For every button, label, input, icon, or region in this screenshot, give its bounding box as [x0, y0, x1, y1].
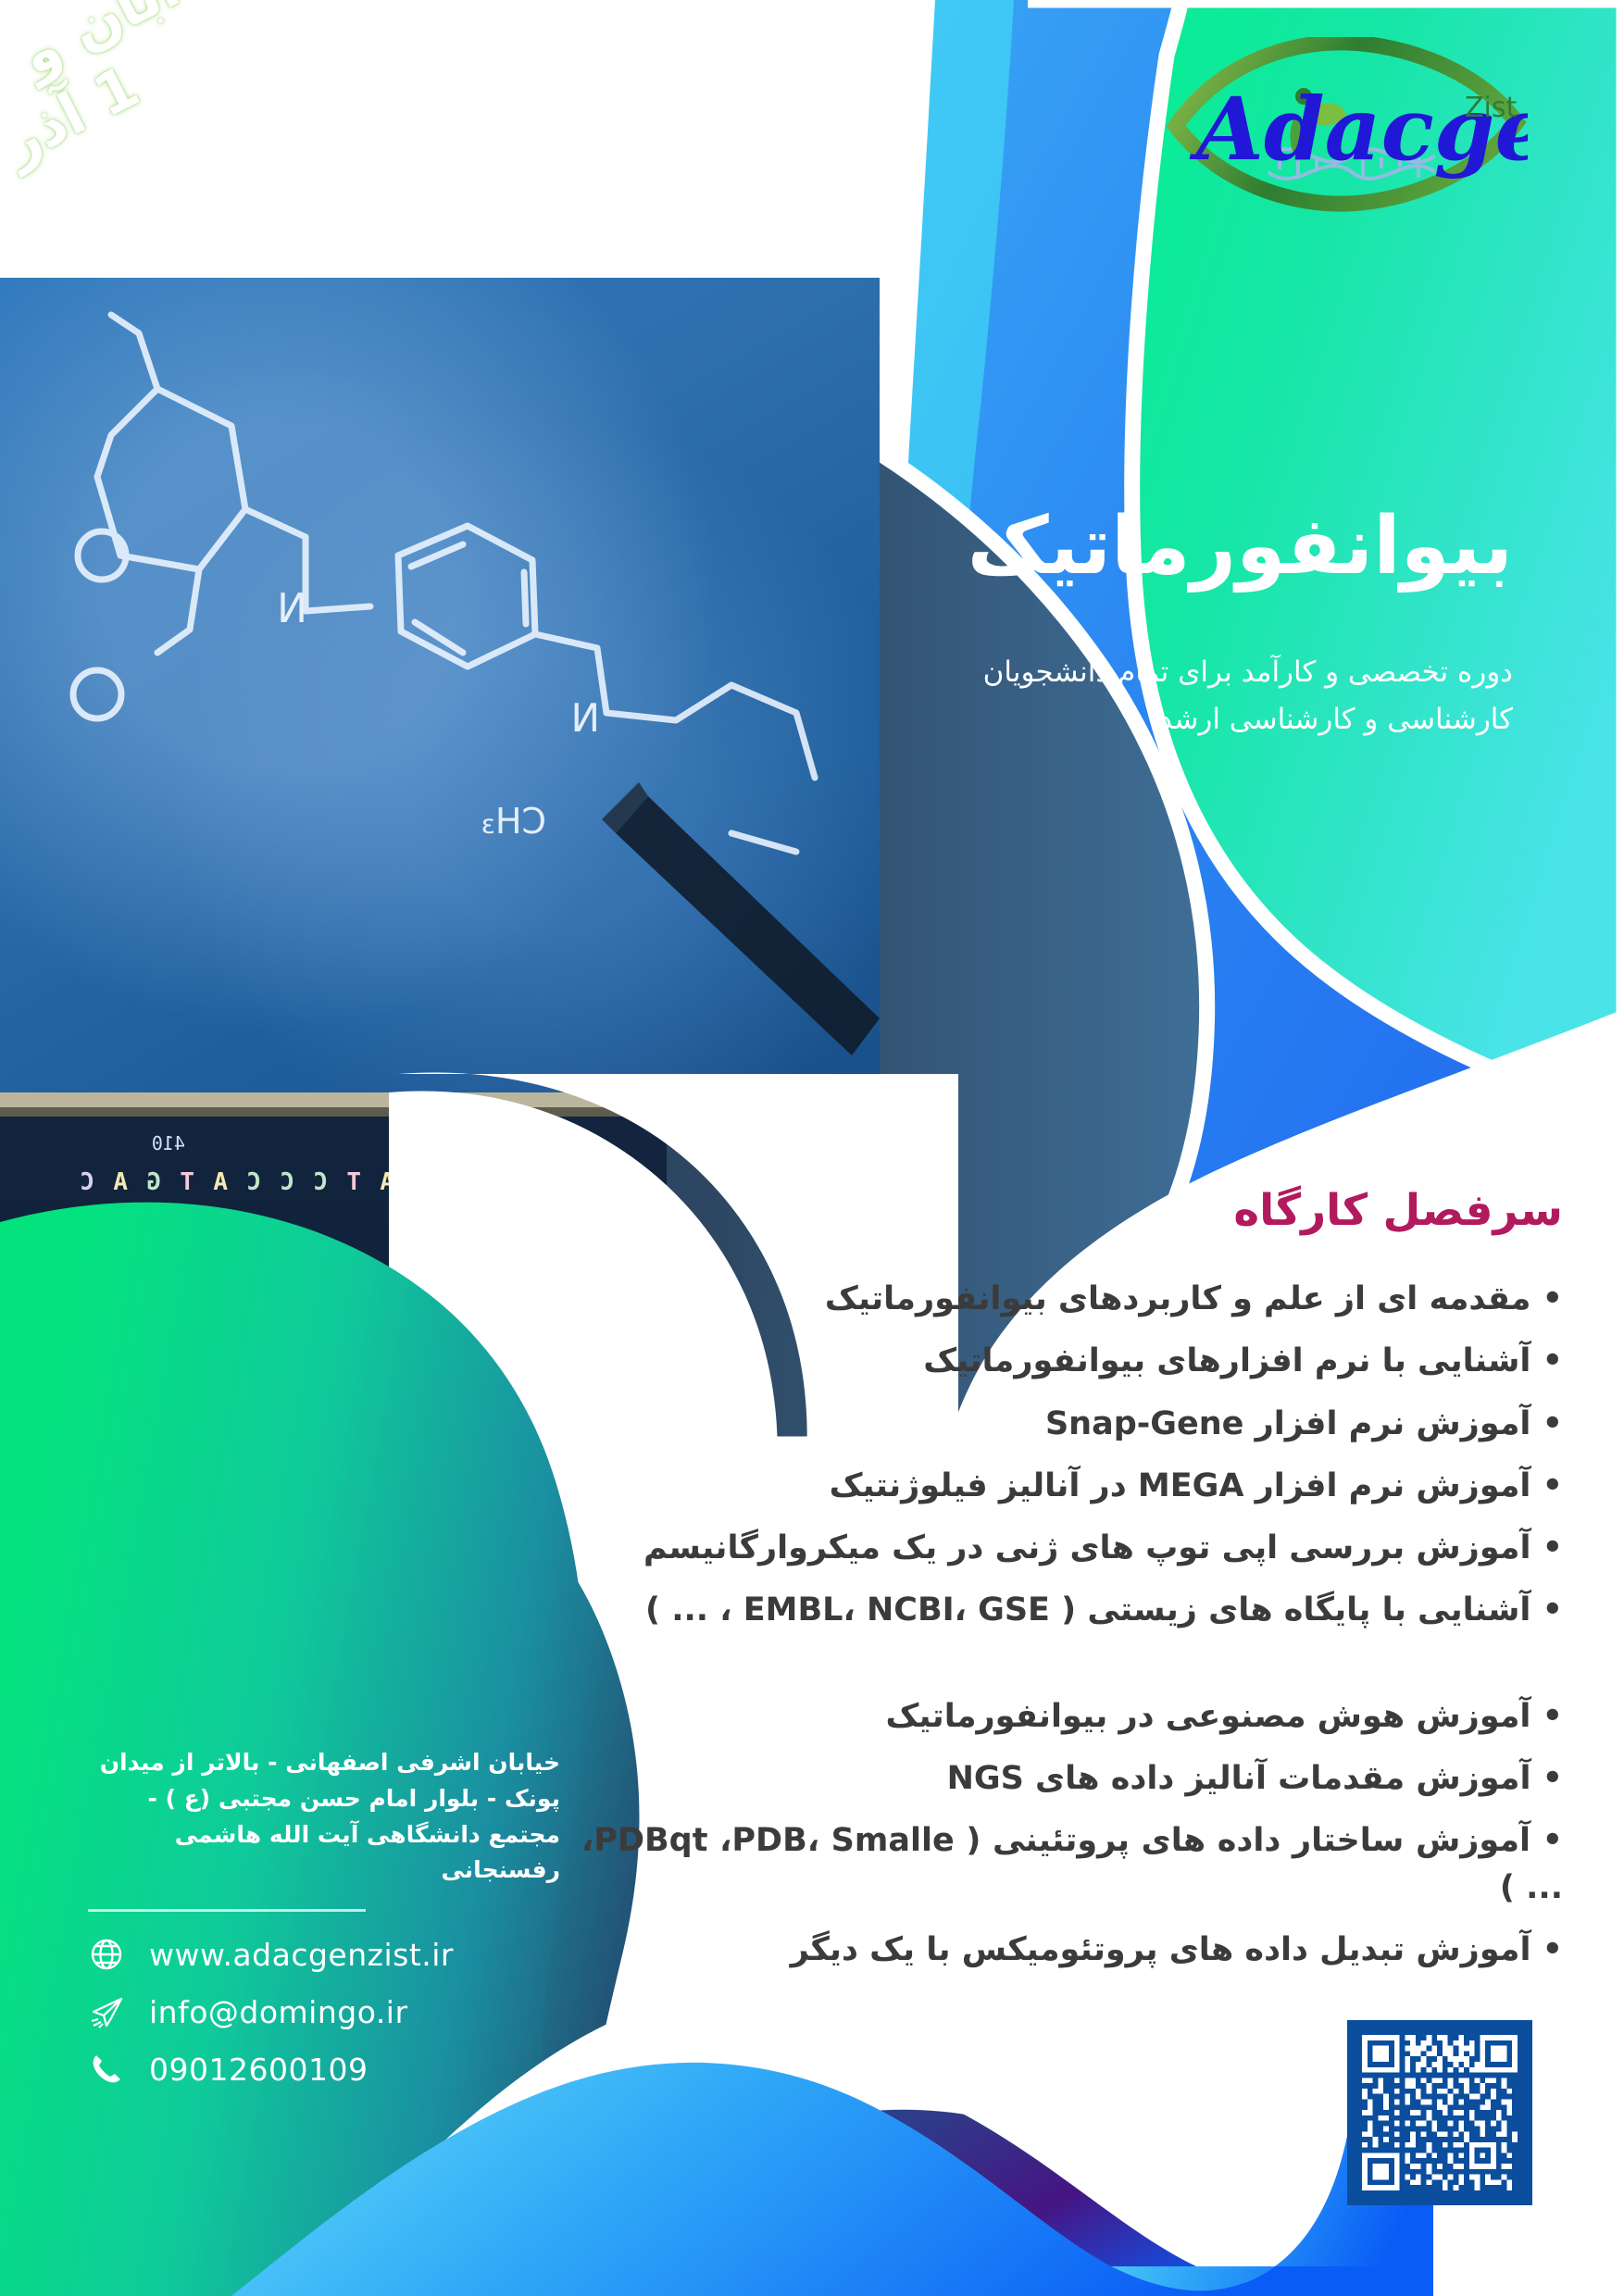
email-text: info@domingo.ir: [149, 1994, 408, 2030]
syllabus-group-2: • آموزش هوش مصنوعی در بیوانفورماتیک • آم…: [581, 1693, 1563, 1974]
contact-section: خیابان اشرفی اصفهانی - بالاتر از میدان پ…: [88, 1745, 560, 2108]
contact-row-email[interactable]: info@domingo.ir: [88, 1993, 560, 2030]
list-item: • آموزش هوش مصنوعی در بیوانفورماتیک: [581, 1693, 1563, 1741]
subtitle-line-1: دوره تخصصی و کارآمد برای تمام دانشجویان: [754, 649, 1513, 695]
paper-plane-icon: [88, 1993, 125, 2030]
poster-canvas: N N CH₃ TG CT GA AA TC CC AT GA C 420410: [0, 0, 1624, 2296]
list-item: • آموزش تبدیل داده های پروتئومیکس با یک …: [581, 1927, 1563, 1974]
brand-logo: Adacgen Zist: [1157, 37, 1528, 213]
phone-text: 09012600109: [149, 2052, 368, 2088]
syllabus-group-1: • مقدمه ای از علم و کاربردهای بیوانفورما…: [581, 1276, 1563, 1634]
list-item: • آموزش ساختار داده های پروتئینی ( PDBqt…: [581, 1817, 1563, 1912]
syllabus-heading: سرفصل کارگاه: [581, 1185, 1563, 1237]
list-item: • آموزش نرم افزار MEGA در آنالیز فیلوژنت…: [581, 1463, 1563, 1510]
qr-code[interactable]: [1347, 2020, 1532, 2205]
syllabus-section: سرفصل کارگاه • مقدمه ای از علم و کاربرده…: [581, 1185, 1563, 1989]
page-title: بیوانفورماتیک: [754, 500, 1513, 593]
divider: [88, 1909, 366, 1912]
globe-icon: [88, 1936, 125, 1973]
contact-row-website[interactable]: www.adacgenzist.ir: [88, 1936, 560, 1973]
list-item: • آشنایی با پایگاه های زیستی ( EMBL، NCB…: [581, 1587, 1563, 1634]
logo-suffix: Zist: [1465, 92, 1518, 124]
list-item: • مقدمه ای از علم و کاربردهای بیوانفورما…: [581, 1276, 1563, 1323]
list-item: • آشنایی با نرم افزارهای بیوانفورماتیک: [581, 1338, 1563, 1385]
subtitle-line-2: کارشناسی و کارشناسی ارشد: [754, 696, 1513, 742]
list-item: • آموزش بررسی اپی توپ های ژنی در یک میکر…: [581, 1525, 1563, 1572]
title-block: بیوانفورماتیک دوره تخصصی و کارآمد برای ت…: [754, 500, 1513, 742]
website-text: www.adacgenzist.ir: [149, 1937, 454, 1973]
phone-icon: [88, 2051, 125, 2088]
contact-row-phone[interactable]: 09012600109: [88, 2051, 560, 2088]
subtitle: دوره تخصصی و کارآمد برای تمام دانشجویان …: [754, 649, 1513, 742]
list-item: • آموزش مقدمات آنالیز داده های NGS: [581, 1755, 1563, 1803]
list-item: • آموزش نرم افزار Snap-Gene: [581, 1401, 1563, 1448]
address-text: خیابان اشرفی اصفهانی - بالاتر از میدان پ…: [88, 1745, 560, 1889]
